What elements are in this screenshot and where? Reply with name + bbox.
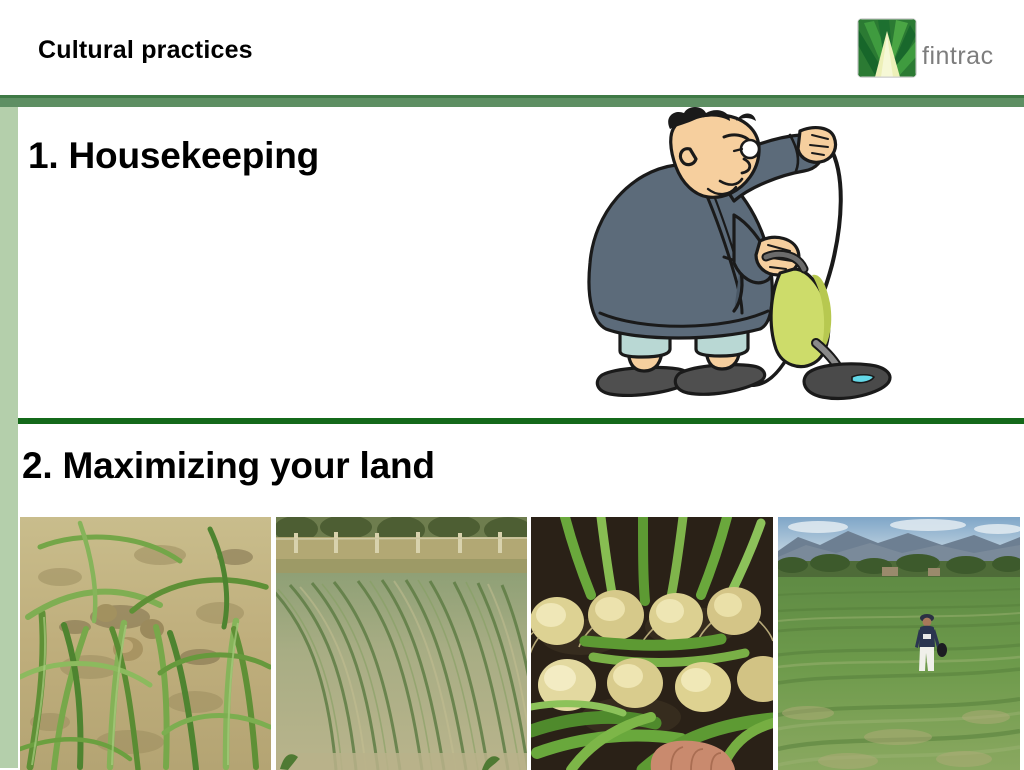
photo-onion-field-rows [276,517,527,770]
left-green-rail [0,107,18,768]
fintrac-logo: fintrac [858,19,1010,81]
slide-header: Cultural practices fintr [0,0,1024,95]
section-2-heading: 2. Maximizing your land [22,445,435,487]
photo-onion-seedlings-closeup [20,517,271,770]
section-divider [18,418,1024,424]
slide-body: 1. Housekeeping [18,107,1024,768]
fintrac-logo-mark-icon [858,19,916,77]
photo-strip [20,517,1024,682]
man-vacuuming-cartoon [584,105,904,405]
slide: Cultural practices fintr [0,0,1024,768]
photo-harvested-onion-bulbs [531,517,773,770]
page-title: Cultural practices [38,36,253,65]
fintrac-wordmark: fintrac [922,44,994,69]
section-1-heading: 1. Housekeeping [28,135,319,177]
section-housekeeping: 1. Housekeeping [18,107,1024,417]
photo-large-onion-field-with-person [778,517,1020,770]
section-maximizing-your-land: 2. Maximizing your land [18,427,1024,768]
